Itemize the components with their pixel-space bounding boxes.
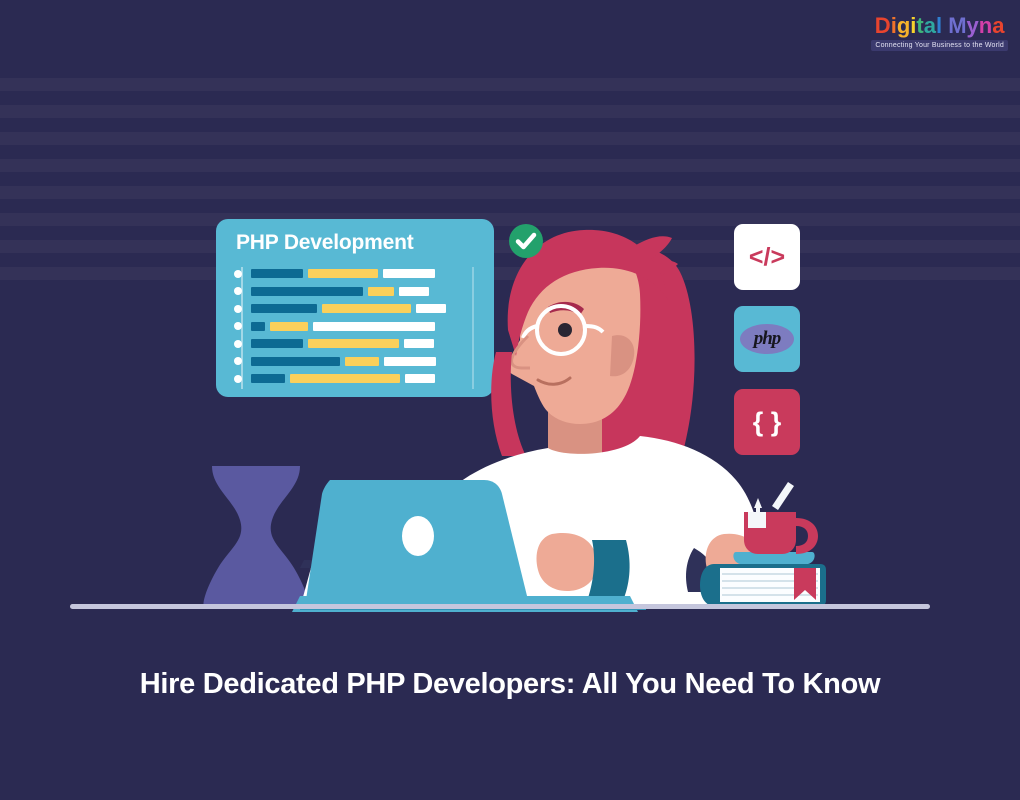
brand-name: Digital Myna: [871, 14, 1008, 38]
php-ellipse: php: [740, 324, 794, 354]
brand-letter-2: g: [897, 14, 910, 38]
code-tag-card[interactable]: </>: [734, 224, 800, 290]
brand-letter-11: a: [992, 14, 1004, 38]
eye: [558, 323, 572, 337]
braces-icon: { }: [753, 407, 782, 438]
vase-shape: [204, 466, 309, 606]
brand-tagline: Connecting Your Business to the World: [871, 40, 1008, 51]
left-cuff: [588, 540, 630, 598]
braces-card[interactable]: { }: [734, 389, 800, 455]
brand-letter-9: y: [967, 14, 979, 38]
coffee-mug: [744, 482, 818, 554]
php-logo-card[interactable]: php: [734, 306, 800, 372]
book-stack: [700, 564, 826, 606]
code-tag-icon: </>: [749, 243, 785, 272]
left-hand: [537, 533, 597, 591]
brand-letter-8: M: [948, 14, 966, 38]
verified-check-icon: [509, 224, 543, 258]
brand-letter-4: t: [916, 14, 923, 38]
php-logo-icon: php: [754, 328, 781, 350]
desk-surface: [70, 604, 930, 609]
brand-letter-0: D: [875, 14, 891, 38]
banner: Digital Myna Connecting Your Business to…: [0, 0, 1020, 800]
brand-letter-5: a: [924, 14, 936, 38]
brand-logo[interactable]: Digital Myna Connecting Your Business to…: [871, 14, 1008, 51]
page-title: Hire Dedicated PHP Developers: All You N…: [0, 668, 1020, 701]
brand-letter-10: n: [979, 14, 992, 38]
